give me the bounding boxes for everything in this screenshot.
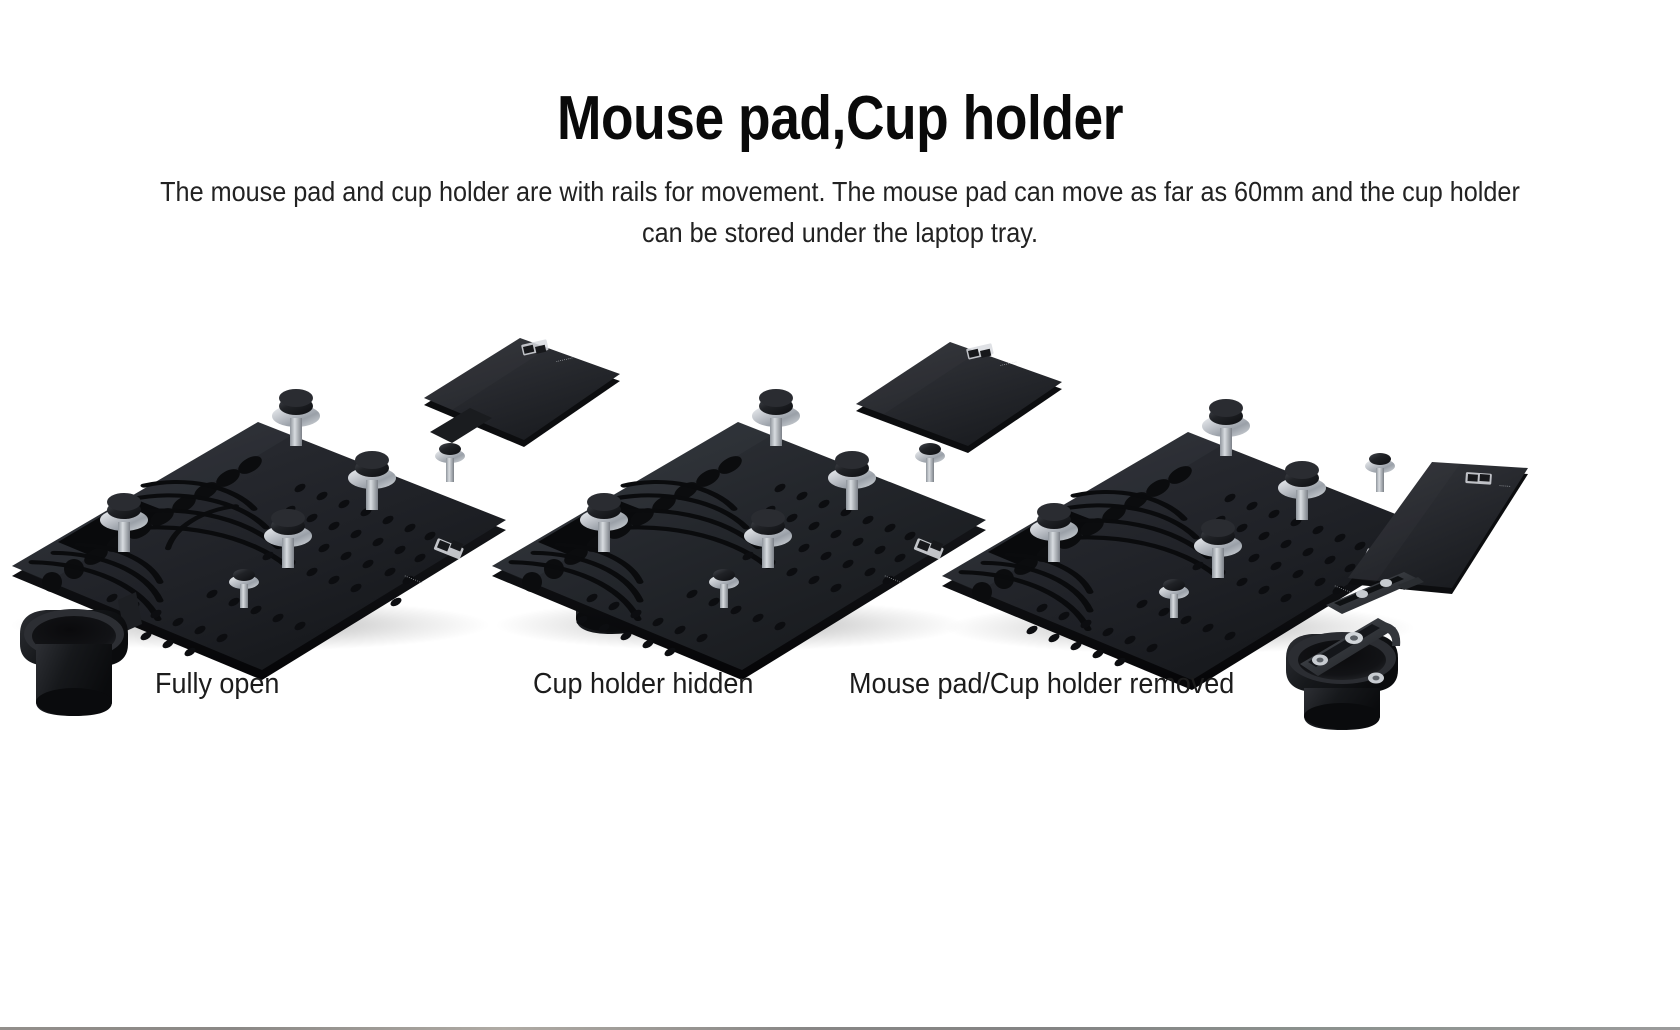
mouse-pad-extended[interactable]: ......... — [424, 338, 620, 447]
figure-fully-open: ......... — [10, 338, 620, 716]
caption-cup-holder-hidden: Cup holder hidden — [533, 668, 753, 701]
mouse-pad-tucked[interactable]: ......... — [856, 342, 1062, 453]
product-artwork-svg: ......... — [0, 0, 1680, 1030]
caption-fully-open: Fully open — [155, 668, 279, 701]
mouse-pad-brand: ...... — [1499, 481, 1511, 489]
cup-holder-deployed[interactable] — [20, 592, 142, 716]
adjust-post-small[interactable] — [435, 443, 465, 482]
caption-parts-removed: Mouse pad/Cup holder removed — [849, 668, 1234, 701]
adjust-post-small[interactable] — [915, 443, 945, 482]
adjust-post-small[interactable] — [1365, 453, 1395, 492]
product-illustrations: ......... — [0, 0, 1680, 1030]
product-feature-page: Mouse pad,Cup holder The mouse pad and c… — [0, 0, 1680, 1030]
